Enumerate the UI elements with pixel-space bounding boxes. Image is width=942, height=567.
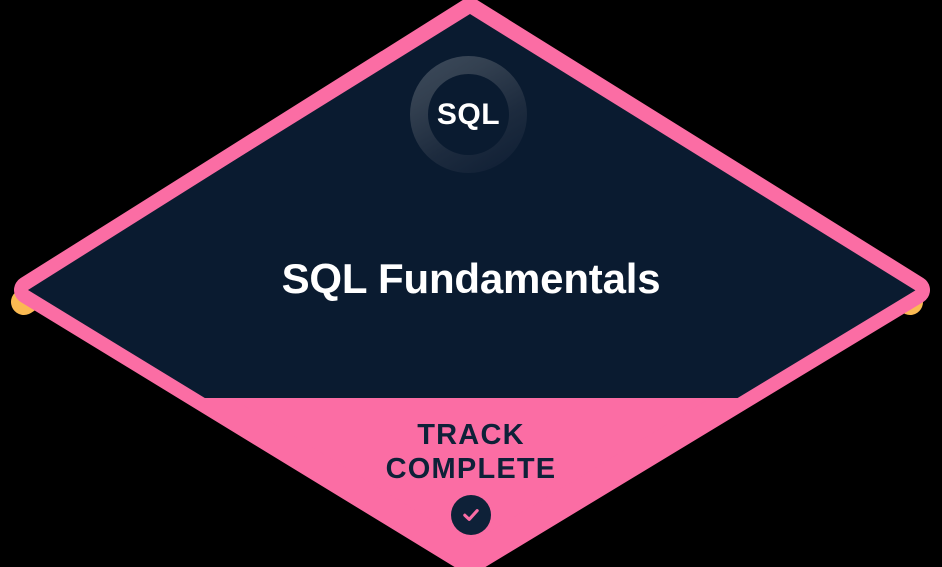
track-completion-badge: SQL SQL Fundamentals TRACK COMPLETE: [0, 0, 942, 567]
badge-shape-graphic: [0, 0, 942, 567]
